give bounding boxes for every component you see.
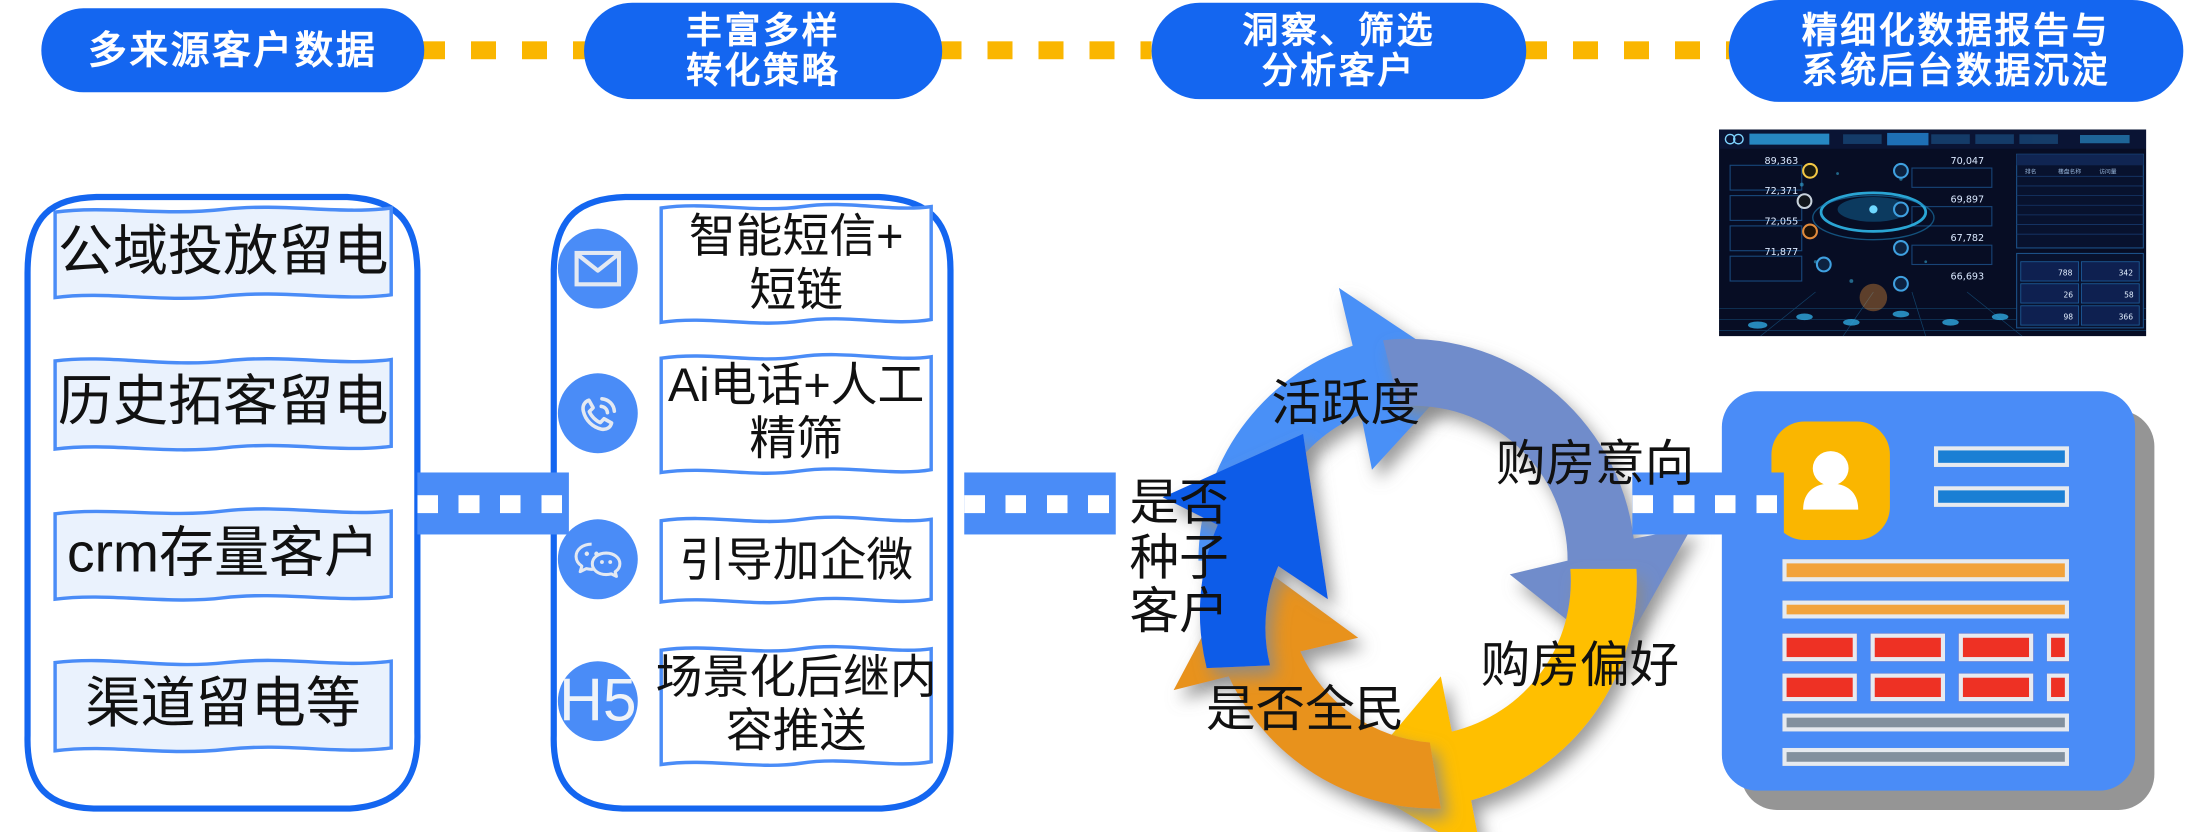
profile-tag-red-0 bbox=[1782, 634, 1856, 662]
source-item-label: 历史拓客留电 bbox=[52, 354, 394, 453]
envelope-glyph bbox=[574, 251, 621, 287]
svg-text:67,782: 67,782 bbox=[1951, 233, 1985, 244]
profile-tag-red-7 bbox=[2047, 674, 2069, 702]
avatar bbox=[1771, 422, 1889, 540]
header-dotline-2 bbox=[937, 41, 1152, 59]
pill-multi-source-customer-data[interactable]: 多来源客户数据 bbox=[41, 8, 424, 92]
profile-field-orange-1 bbox=[1782, 601, 2069, 619]
customer-profile-card[interactable] bbox=[1722, 391, 2135, 790]
strategy-item-label: Ai电话+人工 精筛 bbox=[658, 350, 933, 477]
cycle-label-seed-customer: 是否 种子 客户 bbox=[1110, 475, 1248, 639]
profile-field-orange-0 bbox=[1782, 559, 2069, 581]
source-item-0[interactable]: 公域投放留电 bbox=[52, 204, 394, 303]
profile-tag-red-5 bbox=[1871, 674, 1945, 702]
strategy-item-0[interactable]: 智能短信+ 短链 bbox=[658, 201, 933, 328]
strategy-line: 智能短信+ bbox=[689, 211, 904, 264]
svg-text:366: 366 bbox=[2119, 313, 2134, 322]
svg-text:排名: 排名 bbox=[2025, 168, 2037, 176]
svg-text:89,363: 89,363 bbox=[1765, 156, 1799, 167]
source-item-1[interactable]: 历史拓客留电 bbox=[52, 354, 394, 453]
user-avatar-icon bbox=[1795, 445, 1867, 517]
wechat-glyph bbox=[572, 537, 624, 581]
strategy-line: 引导加企微 bbox=[679, 534, 913, 587]
source-item-label: crm存量客户 bbox=[52, 506, 394, 605]
svg-text:66,693: 66,693 bbox=[1951, 272, 1985, 283]
pill-line: 精细化数据报告与 bbox=[1802, 11, 2111, 51]
pill-line: 系统后台数据沉淀 bbox=[1802, 51, 2111, 91]
strategy-line: Ai电话+人工 bbox=[668, 360, 924, 413]
strategy-item-label: 引导加企微 bbox=[658, 514, 933, 608]
connector-strategies-to-cycle bbox=[964, 472, 1116, 534]
source-item-label: 公域投放留电 bbox=[52, 204, 394, 303]
profile-tag-red-6 bbox=[1959, 674, 2033, 702]
infographic-root: 多来源客户数据 丰富多样 转化策略 洞察、筛选 分析客户 精细化数据报告与 系统… bbox=[0, 0, 2183, 832]
svg-text:楼盘名称: 楼盘名称 bbox=[2058, 168, 2081, 176]
profile-tag-red-1 bbox=[1871, 634, 1945, 662]
profile-field-grey-1 bbox=[1782, 748, 2069, 766]
source-item-2[interactable]: crm存量客户 bbox=[52, 506, 394, 605]
customer-insight-cycle: 活跃度 购房意向 购房偏好 是否全民 是否 种子 客户 bbox=[1102, 269, 1749, 832]
cycle-label-purchase-preference: 购房偏好 bbox=[1449, 638, 1711, 694]
pill-line: 转化策略 bbox=[686, 51, 840, 91]
profile-tag-red-3 bbox=[2047, 634, 2069, 662]
pill-line: 分析客户 bbox=[1242, 51, 1435, 91]
strategy-item-label: 智能短信+ 短链 bbox=[658, 201, 933, 328]
svg-text:342: 342 bbox=[2119, 268, 2134, 277]
connector-sources-to-strategies bbox=[417, 472, 569, 534]
strategy-item-1[interactable]: Ai电话+人工 精筛 bbox=[658, 350, 933, 477]
strategy-line: 精筛 bbox=[749, 413, 843, 466]
header-dotline-1 bbox=[420, 41, 596, 59]
strategy-item-3[interactable]: 场景化后继内 容推送 bbox=[658, 642, 933, 769]
source-item-label: 渠道留电等 bbox=[52, 656, 394, 755]
pill-line: 丰富多样 bbox=[686, 11, 840, 51]
strategy-line: 容推送 bbox=[726, 705, 867, 758]
svg-text:72,055: 72,055 bbox=[1765, 217, 1799, 228]
envelope-icon[interactable] bbox=[558, 229, 638, 309]
pill-line: 多来源客户数据 bbox=[88, 29, 377, 72]
strategy-item-label: 场景化后继内 容推送 bbox=[658, 642, 933, 769]
cycle-label-purchase-intent: 购房意向 bbox=[1457, 437, 1732, 493]
pill-line: 洞察、筛选 bbox=[1242, 11, 1435, 51]
phone-glyph bbox=[573, 388, 623, 438]
pill-insight-filter-analyze[interactable]: 洞察、筛选 分析客户 bbox=[1152, 3, 1527, 99]
strategy-item-2[interactable]: 引导加企微 bbox=[658, 514, 933, 608]
dashboard-render: 89,363 72,371 72,055 71,877 70,047 69,89… bbox=[1719, 129, 2146, 336]
profile-field-grey-0 bbox=[1782, 714, 2069, 732]
pill-refined-data-report[interactable]: 精细化数据报告与 系统后台数据沉淀 bbox=[1729, 0, 2184, 102]
svg-text:访问量: 访问量 bbox=[2099, 168, 2117, 176]
source-item-3[interactable]: 渠道留电等 bbox=[52, 656, 394, 755]
svg-text:70,047: 70,047 bbox=[1951, 156, 1985, 167]
profile-field-blue-0 bbox=[1934, 446, 2069, 467]
smart-marketing-cloud-dashboard[interactable]: 89,363 72,371 72,055 71,877 70,047 69,89… bbox=[1719, 129, 2146, 336]
h5-icon[interactable]: H5 bbox=[558, 661, 638, 741]
cycle-label-activity: 活跃度 bbox=[1242, 376, 1449, 432]
strategy-line: 短链 bbox=[749, 264, 843, 317]
svg-text:72,371: 72,371 bbox=[1765, 186, 1799, 197]
svg-text:71,877: 71,877 bbox=[1765, 247, 1799, 258]
profile-tag-red-4 bbox=[1782, 674, 1856, 702]
phone-icon[interactable] bbox=[558, 373, 638, 453]
svg-text:788: 788 bbox=[2058, 268, 2073, 277]
svg-text:98: 98 bbox=[2063, 313, 2073, 322]
svg-text:26: 26 bbox=[2063, 291, 2073, 300]
h5-icon-label: H5 bbox=[559, 667, 636, 736]
strategy-line: 场景化后继内 bbox=[656, 652, 937, 705]
profile-tag-red-2 bbox=[1959, 634, 2033, 662]
wechat-icon[interactable] bbox=[558, 519, 638, 599]
profile-field-blue-1 bbox=[1934, 486, 2069, 507]
cycle-label-universal: 是否全民 bbox=[1185, 682, 1426, 738]
pill-rich-conversion-strategy[interactable]: 丰富多样 转化策略 bbox=[584, 3, 942, 99]
svg-text:58: 58 bbox=[2124, 291, 2134, 300]
svg-text:69,897: 69,897 bbox=[1951, 194, 1985, 205]
header-dotline-3 bbox=[1522, 41, 1740, 59]
